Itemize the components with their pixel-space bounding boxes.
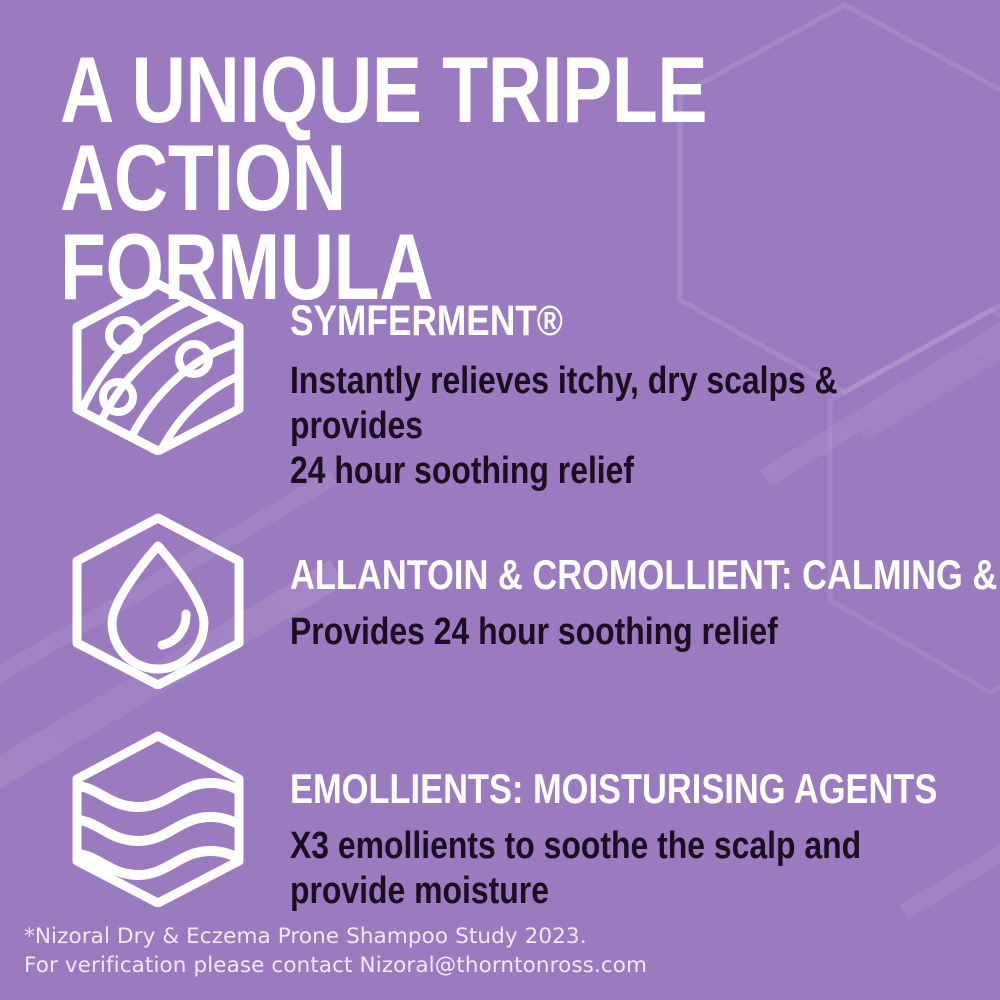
page-title: A UNIQUE TRIPLE ACTION FORMULA bbox=[60, 46, 764, 311]
feature-title: ALLANTOIN & CROMOLLIENT: CALMING & SOOTH… bbox=[290, 554, 1000, 596]
feature-title: EMOLLIENTS: MOISTURISING AGENTS bbox=[290, 768, 937, 810]
feature-title: SYMFERMENT® bbox=[290, 300, 842, 343]
feature-row-allantoin: ALLANTOIN & CROMOLLIENT: CALMING & SOOTH… bbox=[63, 512, 963, 690]
feature-text-block: EMOLLIENTS: MOISTURISING AGENTS X3 emoll… bbox=[253, 730, 1000, 914]
footnote-disclaimer: *Nizoral Dry & Eczema Prone Shampoo Stud… bbox=[24, 922, 647, 980]
hexagon-waves-icon bbox=[63, 730, 253, 908]
feature-description: Instantly relieves itchy, dry scalps & p… bbox=[290, 359, 855, 493]
hexagon-ferment-arcs-icon bbox=[63, 278, 253, 456]
feature-row-symferment: SYMFERMENT® Instantly relieves itchy, dr… bbox=[63, 278, 963, 493]
hexagon-water-droplet-icon bbox=[63, 512, 253, 690]
feature-description: X3 emollients to soothe the scalp and pr… bbox=[290, 824, 953, 914]
promotional-poster: A UNIQUE TRIPLE ACTION FORMULA bbox=[0, 0, 1000, 1000]
feature-description: Provides 24 hour soothing relief bbox=[290, 610, 1000, 655]
feature-text-block: ALLANTOIN & CROMOLLIENT: CALMING & SOOTH… bbox=[253, 512, 1000, 655]
feature-row-emollients: EMOLLIENTS: MOISTURISING AGENTS X3 emoll… bbox=[63, 730, 963, 914]
feature-text-block: SYMFERMENT® Instantly relieves itchy, dr… bbox=[253, 278, 963, 493]
